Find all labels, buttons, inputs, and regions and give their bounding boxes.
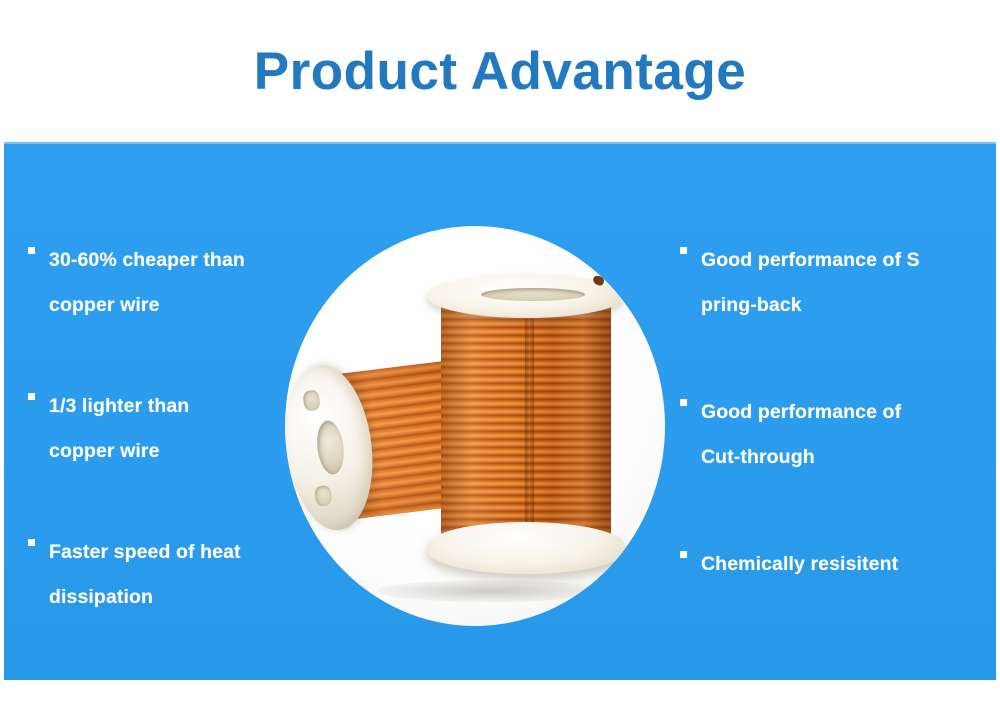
list-item-text: 1/3 lighter than copper wire bbox=[49, 384, 189, 474]
product-image bbox=[285, 226, 665, 626]
front-spool-top-groove bbox=[481, 288, 585, 301]
rear-spool-center-hole bbox=[314, 419, 346, 476]
rear-spool-slot bbox=[314, 485, 332, 507]
product-photo-stage bbox=[285, 226, 665, 626]
list-item-line1: 1/3 lighter than bbox=[49, 395, 189, 417]
list-item: Good performance of Cut-through bbox=[680, 390, 980, 480]
list-item: Good performance of S pring-back bbox=[680, 238, 980, 328]
advantages-panel: 30-60% cheaper than copper wire 1/3 ligh… bbox=[4, 142, 996, 680]
square-bullet-icon bbox=[680, 551, 687, 558]
list-item-text: Good performance of S pring-back bbox=[701, 238, 920, 328]
list-item-line1: Chemically resisitent bbox=[701, 553, 898, 575]
panel-top-edge bbox=[4, 142, 996, 144]
square-bullet-icon bbox=[680, 399, 687, 406]
front-spool-bottom-flange bbox=[427, 522, 625, 574]
list-item: Faster speed of heat dissipation bbox=[28, 530, 308, 620]
square-bullet-icon bbox=[28, 393, 35, 400]
list-item-line2: copper wire bbox=[49, 283, 245, 328]
list-item-line1: Faster speed of heat bbox=[49, 541, 241, 563]
list-item-line1: Good performance of bbox=[701, 401, 901, 423]
list-item-line1: 30-60% cheaper than bbox=[49, 249, 245, 271]
list-item-text: Chemically resisitent bbox=[701, 542, 898, 587]
list-item-line2: Cut-through bbox=[701, 435, 901, 480]
square-bullet-icon bbox=[680, 247, 687, 254]
list-item-text: 30-60% cheaper than copper wire bbox=[49, 238, 245, 328]
list-item-text: Good performance of Cut-through bbox=[701, 390, 901, 480]
product-advantage-poster: Product Advantage 30-60% cheaper than co… bbox=[0, 0, 1000, 707]
right-advantage-list: Good performance of S pring-back Good pe… bbox=[680, 238, 980, 587]
list-item-text: Faster speed of heat dissipation bbox=[49, 530, 241, 620]
front-spool-seam bbox=[525, 296, 534, 534]
front-spool-wire-winding bbox=[441, 296, 611, 534]
list-item-line1: Good performance of S bbox=[701, 249, 920, 271]
list-item-line2: dissipation bbox=[49, 575, 241, 620]
list-item: Chemically resisitent bbox=[680, 542, 980, 587]
page-title: Product Advantage bbox=[254, 41, 746, 102]
list-item-line2: copper wire bbox=[49, 429, 189, 474]
list-item: 1/3 lighter than copper wire bbox=[28, 384, 308, 474]
rear-spool-slot bbox=[302, 390, 320, 412]
square-bullet-icon bbox=[28, 247, 35, 254]
title-bar: Product Advantage bbox=[0, 0, 1000, 142]
list-item-line2: pring-back bbox=[701, 283, 920, 328]
list-item: 30-60% cheaper than copper wire bbox=[28, 238, 308, 328]
copper-wire-spool-front bbox=[435, 274, 617, 574]
square-bullet-icon bbox=[28, 539, 35, 546]
left-advantage-list: 30-60% cheaper than copper wire 1/3 ligh… bbox=[28, 238, 308, 620]
spool-ground-shadow bbox=[377, 580, 603, 602]
